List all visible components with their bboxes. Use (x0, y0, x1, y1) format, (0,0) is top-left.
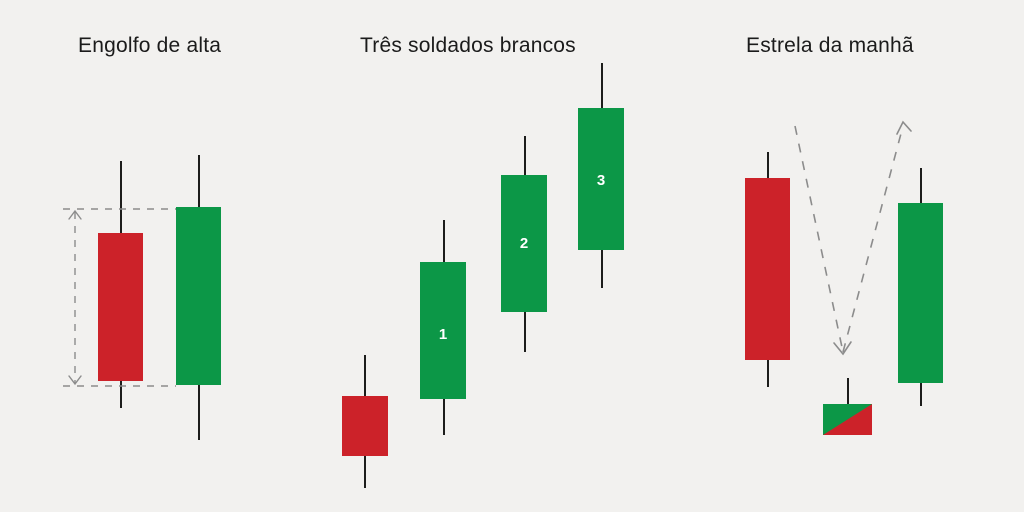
arrow-down-icon (69, 376, 81, 384)
arrow-up-icon (897, 122, 911, 134)
candle-body-split (823, 404, 872, 435)
candle-body (745, 178, 790, 360)
candle-body (342, 396, 388, 456)
v-arrow-down-leg (795, 126, 843, 352)
candle-body (176, 207, 221, 385)
candle-body (98, 233, 143, 381)
soldier-label-3: 3 (578, 173, 624, 188)
candle-wick (847, 378, 849, 405)
soldier-label-1: 1 (420, 327, 466, 342)
morning-star-v-arrow (795, 126, 903, 352)
panel-title-three-white-soldiers: Três soldados brancos (360, 34, 576, 58)
v-arrow-up-leg (843, 126, 903, 352)
panel-title-engulfing: Engolfo de alta (78, 34, 221, 58)
soldier-label-2: 2 (501, 236, 547, 251)
arrow-up-icon (69, 211, 81, 219)
candle-body (898, 203, 943, 383)
arrow-down-icon (834, 342, 851, 354)
bracket-arrowheads (69, 211, 81, 384)
panel-title-morning-star: Estrela da manhã (746, 34, 914, 58)
candlestick-patterns-infographic: Engolfo de alta Três soldados brancos Es… (0, 0, 1024, 512)
